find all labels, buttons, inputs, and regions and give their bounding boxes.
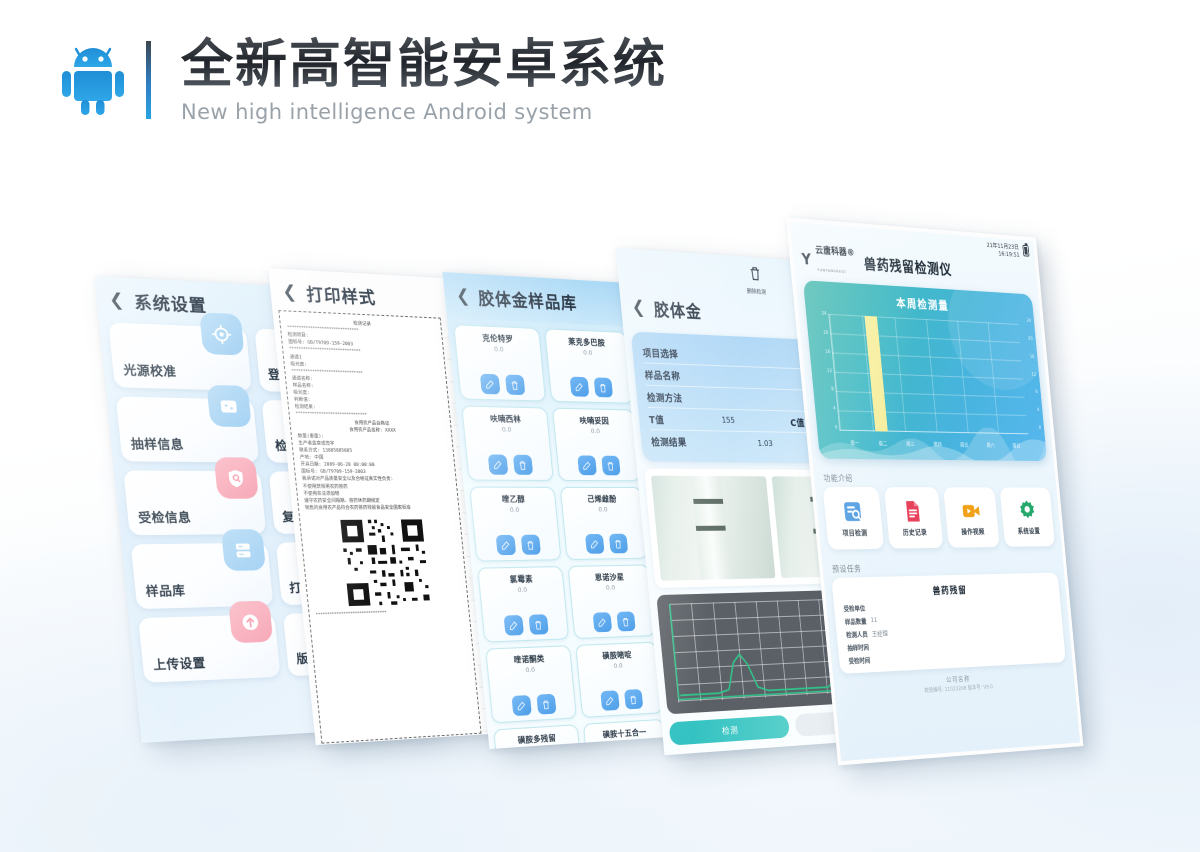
sample-card[interactable]: 克伦特罗0.0	[453, 324, 546, 401]
chart-plot-area	[828, 314, 1028, 434]
settings-item-2[interactable]: 抽样信息	[116, 396, 259, 462]
sample-card-value: 0.0	[569, 348, 607, 357]
trash-icon[interactable]	[505, 375, 525, 396]
video-icon	[960, 499, 982, 523]
back-chevron-icon[interactable]: ❮	[455, 285, 470, 306]
edit-pencil-icon[interactable]	[600, 690, 620, 711]
trash-icon[interactable]	[601, 456, 620, 476]
edit-pencil-icon[interactable]	[495, 535, 516, 555]
chart-ytick: 12	[816, 368, 832, 374]
page-title: 全新高智能安卓系统	[181, 36, 667, 94]
sample-card-name: 喹诺酮类	[513, 653, 545, 665]
print-style-title: 打印样式	[305, 280, 377, 309]
sample-card-name: 克伦特罗	[482, 333, 514, 345]
receipt-line: 不使用禁限用农药兽药	[302, 483, 451, 490]
trash-icon[interactable]	[520, 535, 540, 555]
sample-card-name: 恩诺沙星	[594, 572, 624, 583]
sample-card[interactable]: 氯霉素0.0	[477, 566, 569, 642]
chart-ytick: 8	[1025, 390, 1037, 395]
sample-card[interactable]: 己烯雌酚0.0	[560, 487, 648, 560]
preset-task-value	[874, 655, 875, 664]
sample-card[interactable]: 磺胺嘧啶0.0	[575, 642, 663, 718]
settings-item-6[interactable]: 样品库	[131, 543, 273, 609]
preset-task-value	[869, 603, 870, 612]
sample-card-value: 0.0	[603, 738, 647, 749]
preset-task-key: 检测人员	[846, 629, 868, 639]
detect-button[interactable]: 检测	[669, 715, 790, 746]
preset-task-value: 11	[870, 616, 878, 625]
back-chevron-icon[interactable]: ❮	[631, 297, 646, 318]
sample-card-value: 0.0	[515, 665, 546, 674]
settings-item-label: 上传设置	[152, 652, 206, 673]
sample-card-value: 0.0	[596, 583, 626, 592]
sample-card-value: 0.0	[511, 586, 535, 595]
sample-card-value: 0.0	[483, 345, 515, 354]
brand-name-en: YUNTANGKEQI	[817, 267, 846, 274]
chart-ytick: 16	[815, 349, 831, 355]
fn-card-history-record[interactable]: 历史记录	[884, 487, 943, 549]
preset-task-card[interactable]: 兽药残留 受检单位样品数量11检测人员王经理抽样时间受检时间	[831, 573, 1066, 674]
preset-task-rows: 受检单位样品数量11检测人员王经理抽样时间受检时间	[843, 597, 1057, 665]
chart-ytick: 16	[1022, 354, 1035, 359]
receipt-line: 销售的食用农产品符合农药兽药残留食品安全国家标准	[305, 504, 454, 512]
settings-item-0[interactable]: 光源校准	[108, 322, 251, 391]
sample-card[interactable]: 恩诺沙星0.0	[567, 564, 655, 639]
trash-icon	[747, 265, 763, 283]
shield-search-icon	[213, 457, 258, 499]
edit-pencil-icon[interactable]	[585, 534, 605, 554]
sample-card[interactable]: 呋喃西林0.0	[461, 405, 553, 480]
chart-ytick: 8	[818, 387, 834, 393]
trash-icon[interactable]	[616, 611, 635, 631]
functions-section-label: 功能介绍	[823, 473, 1056, 485]
sample-card[interactable]: 磺胺多残留0.0	[493, 724, 584, 749]
edit-pencil-icon[interactable]	[479, 374, 500, 395]
sample-card-value: 0.0	[503, 506, 527, 514]
edit-pencil-icon[interactable]	[577, 455, 597, 475]
weekly-detection-chart: 本周检测量 04812162024 04812162024 周一周二周三周四周五…	[803, 280, 1047, 461]
chart-ytick: 24	[1019, 318, 1032, 323]
panel-home[interactable]: 21年11月23日 16:19:51 Y 云唐科器® YUNTANGKEQI 兽…	[786, 217, 1084, 765]
preset-task-key: 受检单位	[843, 603, 865, 613]
edit-pencil-icon[interactable]	[511, 695, 531, 716]
settings-item-label: 光源校准	[122, 359, 177, 380]
chart-ytick: 4	[820, 406, 836, 411]
sample-card[interactable]: 呋喃妥因0.0	[552, 408, 640, 482]
brand-mark-icon: Y	[801, 252, 812, 268]
chart-ytick: 24	[811, 311, 827, 317]
sample-card-name: 己烯雌酚	[587, 494, 617, 505]
sample-card-name: 氯霉素	[509, 574, 533, 586]
android-robot-icon	[62, 45, 124, 115]
decorative-wave	[817, 424, 1047, 461]
preset-task-key: 样品数量	[844, 616, 866, 626]
edit-pencil-icon[interactable]	[569, 377, 589, 397]
device-mockup-stage: ❮ 系统设置 光源校准登录保护抽样信息检测信息受检信息复核信息样品库打印样式上传…	[0, 200, 1200, 840]
preset-task-value	[873, 642, 874, 651]
gear-icon	[1016, 499, 1037, 523]
sample-card[interactable]: 喹乙醇0.0	[469, 487, 561, 562]
fn-card-video[interactable]: 操作视频	[943, 487, 1000, 548]
settings-item-label: 抽样信息	[130, 433, 185, 453]
page-header: 全新高智能安卓系统 New high intelligence Android …	[62, 36, 667, 124]
preset-task-title: 兽药残留	[841, 580, 1051, 600]
trash-icon[interactable]	[528, 614, 548, 635]
detect-title: 胶体金	[653, 295, 703, 323]
qr-code-icon	[337, 516, 433, 609]
page-subtitle: New high intelligence Android system	[181, 100, 667, 124]
edit-pencil-icon[interactable]	[487, 454, 508, 474]
sample-card-name: 呋喃西林	[490, 413, 522, 425]
settings-item-8[interactable]: 上传设置	[138, 614, 280, 683]
chart-ytick: 20	[1020, 336, 1033, 341]
fn-card-project-detect[interactable]: 项目检测	[823, 487, 884, 550]
header-divider	[146, 41, 151, 119]
receipt-line: 不使用非法添加物	[303, 490, 452, 497]
sample-card-name: 呋喃妥因	[579, 415, 609, 426]
sample-library-title: 胶体金样品库	[477, 284, 578, 314]
brand-name-cn: 云唐科器®	[815, 246, 855, 258]
trash-icon[interactable]	[624, 689, 643, 709]
target-icon	[199, 312, 244, 355]
upload-icon	[228, 601, 273, 644]
sample-card-value: 0.0	[491, 425, 523, 434]
settings-item-label: 受检信息	[137, 507, 192, 526]
trash-icon[interactable]	[512, 455, 532, 475]
detect-tool-trash[interactable]: 删除检测	[740, 264, 772, 296]
settings-item-label: 样品库	[145, 580, 186, 600]
chart-ytick: 20	[813, 330, 829, 336]
chart-ytick: 4	[1027, 408, 1039, 413]
chart-ytick: 12	[1024, 372, 1036, 377]
preset-task-key: 抽样时间	[847, 642, 869, 652]
sample-card-value: 0.0	[588, 506, 618, 514]
receipt-lines: 检测项目:国标号: GB/T9709-159-2003*************…	[287, 332, 453, 512]
sample-card-name: 磺胺嘧啶	[602, 650, 632, 662]
trash-icon[interactable]	[593, 377, 612, 397]
history-record-icon	[902, 499, 925, 524]
trash-icon[interactable]	[608, 534, 627, 554]
detect-tool-label: 删除检测	[742, 287, 771, 297]
fn-card-system-settings[interactable]: 系统设置	[1000, 488, 1055, 547]
back-chevron-icon[interactable]: ❮	[108, 289, 125, 310]
sample-card-value: 0.0	[580, 427, 610, 435]
sample-card-value: 0.0	[603, 661, 633, 670]
preset-task-value: 王经理	[871, 629, 888, 639]
chart-bar	[864, 316, 888, 432]
back-chevron-icon[interactable]: ❮	[281, 281, 297, 302]
system-settings-title: 系统设置	[133, 288, 208, 316]
battery-icon	[1022, 245, 1029, 257]
sample-card-name: 莱克多巴胺	[568, 336, 606, 348]
sample-card[interactable]: 莱克多巴胺0.0	[544, 328, 632, 403]
receipt-line: 我承诺对产品质量安全以及合格证真实性负责:	[302, 476, 451, 484]
project-detect-icon	[841, 499, 864, 524]
device-name: 兽药残留检测仪	[863, 254, 953, 281]
sample-card-name: 喹乙醇	[501, 494, 525, 505]
trash-icon[interactable]	[536, 694, 556, 715]
edit-pencil-icon[interactable]	[592, 612, 612, 632]
chart-bars	[828, 314, 1028, 434]
function-card-grid: 项目检测 历史记录 操作视频 系统设置	[815, 487, 1062, 550]
sample-card[interactable]: 磺胺十五合一0.0	[583, 719, 670, 749]
sample-card[interactable]: 喹诺酮类0.0	[485, 645, 577, 723]
database-icon	[221, 529, 266, 571]
preset-task-key: 受检时间	[848, 655, 870, 665]
edit-pencil-icon[interactable]	[503, 615, 523, 636]
settings-item-4[interactable]: 受检信息	[123, 470, 265, 535]
sample-icon	[206, 385, 251, 427]
